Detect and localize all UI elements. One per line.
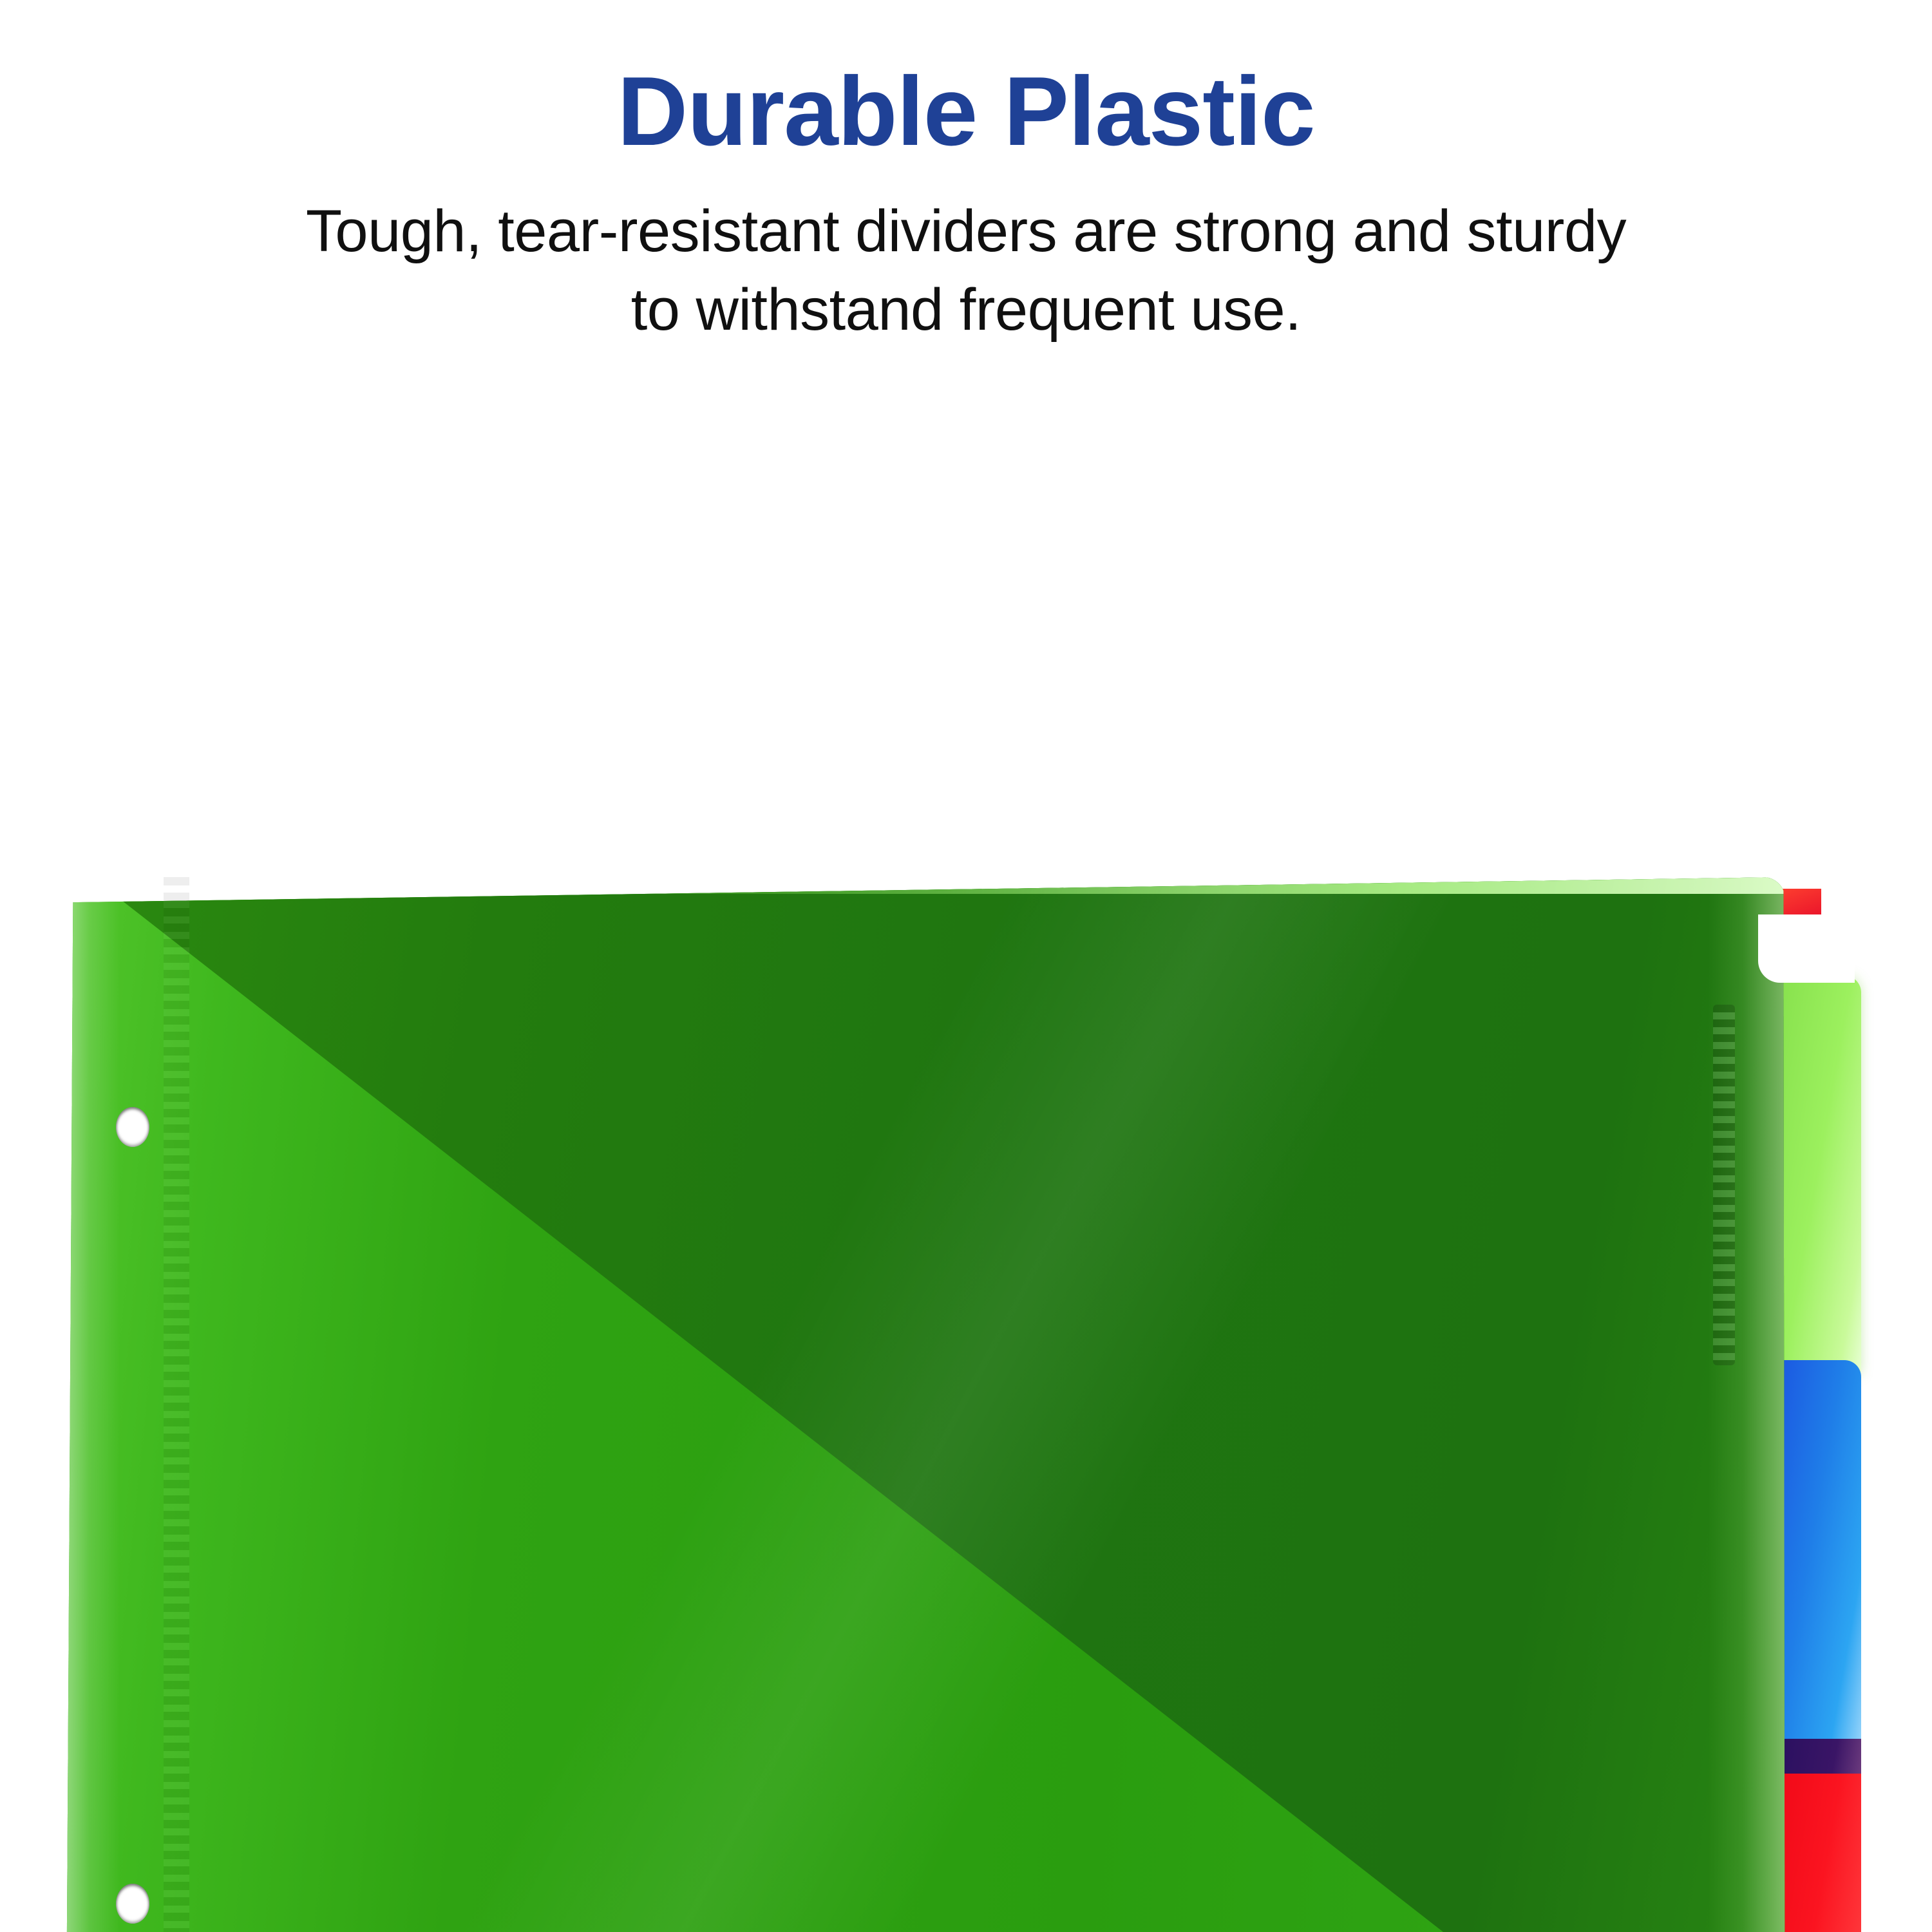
sheet-specular-sheen bbox=[64, 877, 1785, 1932]
three-ring-binder-hole bbox=[116, 1107, 149, 1147]
three-ring-binder-hole bbox=[116, 1884, 149, 1924]
reinforced-binding-edge bbox=[164, 877, 189, 1932]
reinforced-edge-upper-right bbox=[1713, 1005, 1735, 1365]
page-title: Durable Plastic bbox=[0, 0, 1932, 164]
product-feature-panel: Durable Plastic Tough, tear-resistant di… bbox=[0, 0, 1932, 1932]
sheet-corner-notch bbox=[1758, 914, 1855, 983]
green-divider-sheet bbox=[64, 877, 1785, 1932]
page-subtitle-line-1: Tough, tear-resistant dividers are stron… bbox=[0, 192, 1932, 270]
product-photo bbox=[0, 425, 1932, 1932]
sheet-left-gloss bbox=[64, 877, 120, 1932]
sheet-top-highlight bbox=[64, 877, 1785, 894]
header: Durable Plastic Tough, tear-resistant di… bbox=[0, 0, 1932, 349]
page-subtitle-line-2: to withstand frequent use. bbox=[0, 270, 1932, 349]
page-subtitle: Tough, tear-resistant dividers are stron… bbox=[0, 192, 1932, 350]
